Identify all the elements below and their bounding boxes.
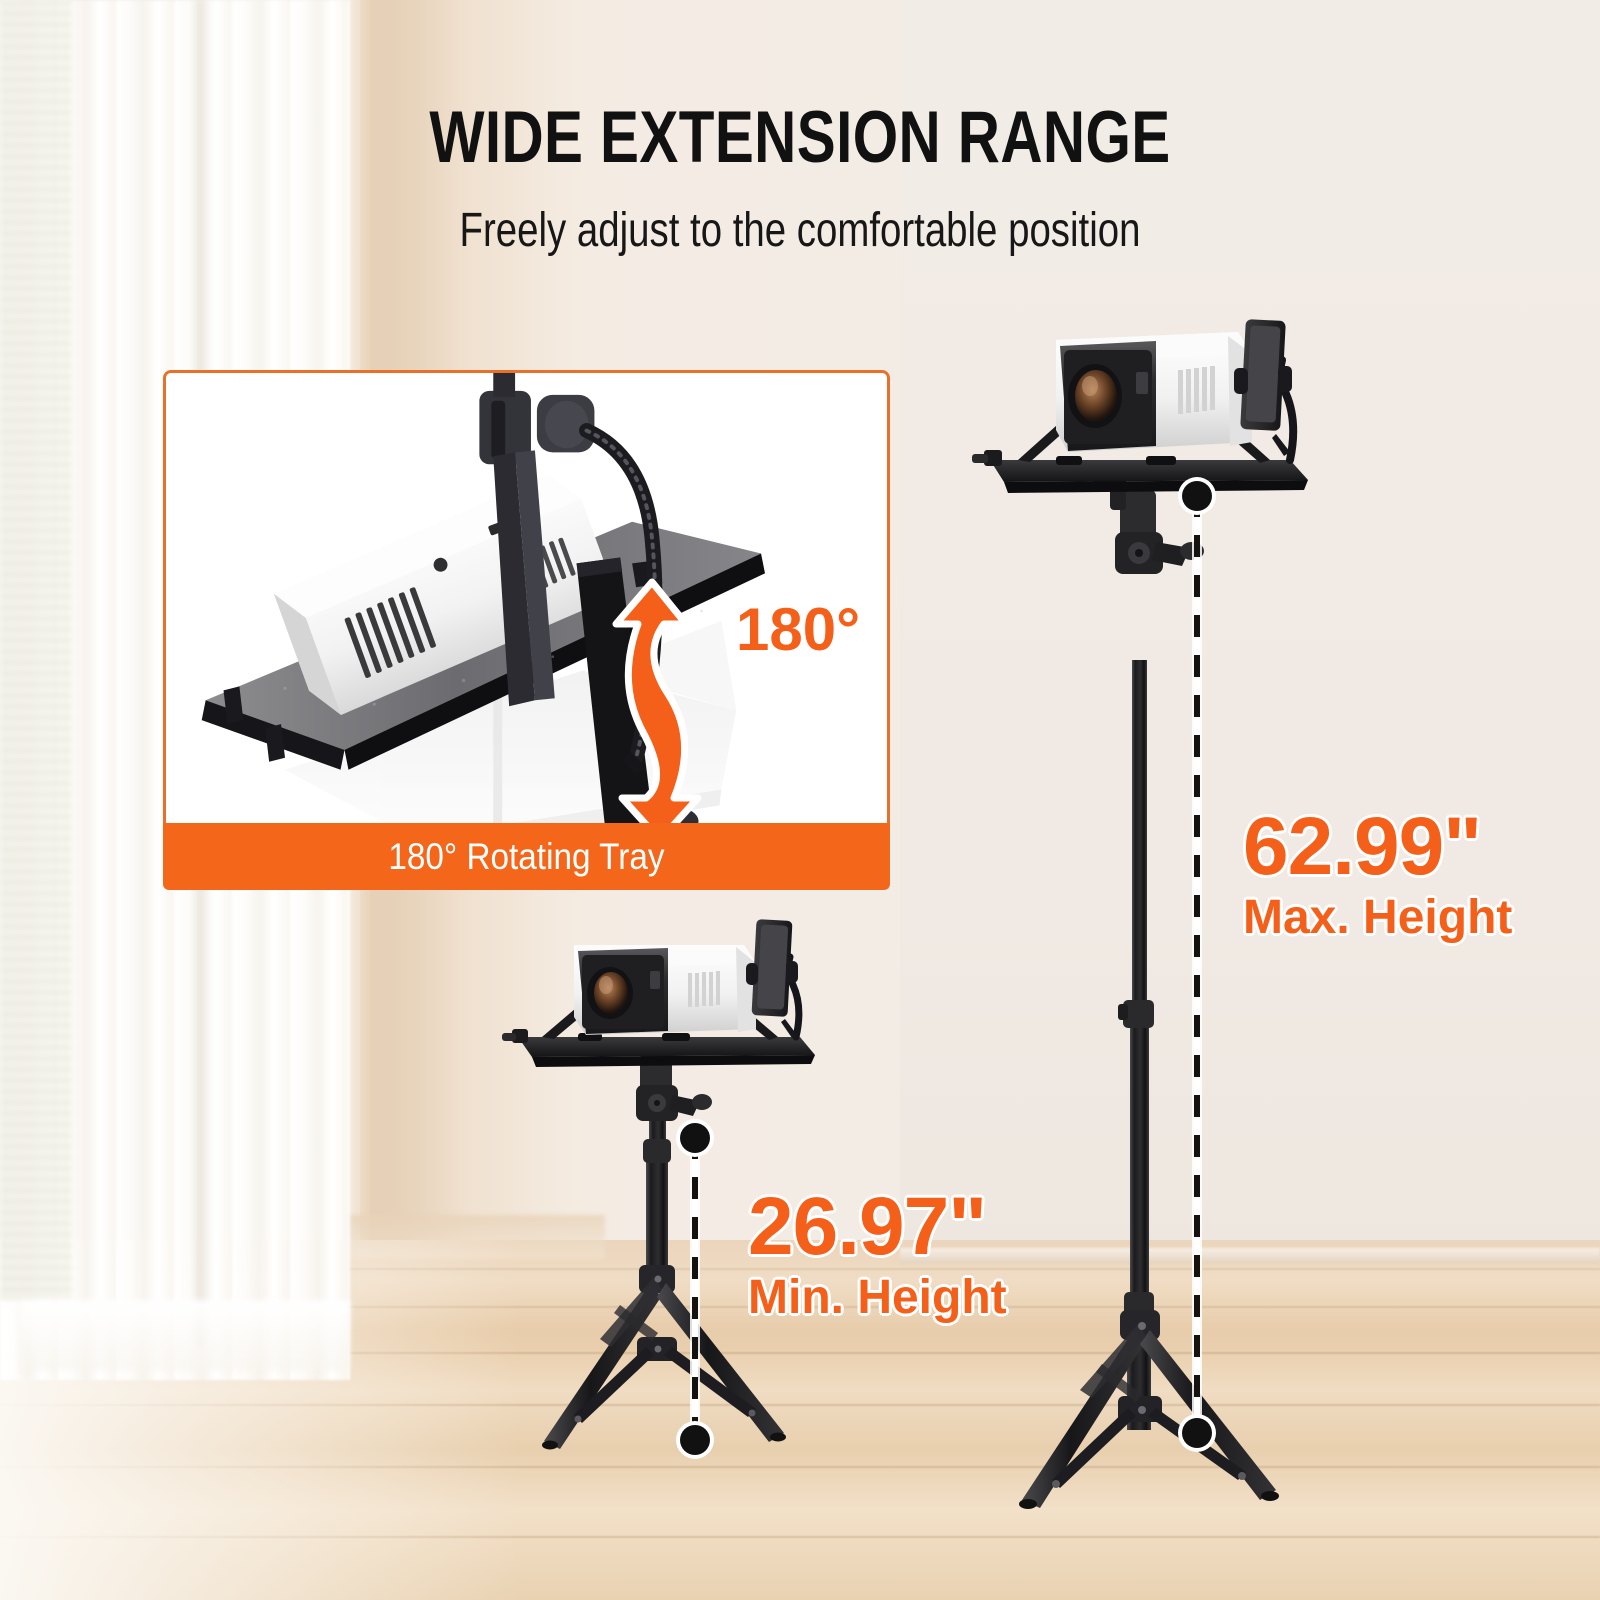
inset-caption-text: 180° Rotating Tray <box>388 836 664 878</box>
inset-caption-bar: 180° Rotating Tray <box>163 823 890 890</box>
max-height-callout: 62.99" Max. Height <box>1243 800 1512 945</box>
min-height-label: Min. Height <box>748 1270 1007 1325</box>
measure-line-min <box>692 1137 698 1437</box>
curtain-hem <box>20 1300 350 1370</box>
measure-dot-min-bottom <box>680 1425 710 1455</box>
rotation-arrow-180 <box>586 548 776 833</box>
measure-dot-max-top <box>1182 481 1212 511</box>
lace-curtain <box>0 0 72 1300</box>
min-height-callout: 26.97" Min. Height <box>748 1180 1007 1325</box>
page-subtitle: Freely adjust to the comfortable positio… <box>160 203 1440 258</box>
min-height-value: 26.97" <box>748 1180 1007 1274</box>
measure-dot-max-bottom <box>1182 1418 1212 1448</box>
projector-device-short <box>574 945 756 1035</box>
max-height-value: 62.99" <box>1243 800 1512 894</box>
measure-line-max <box>1194 495 1200 1430</box>
rotation-angle-label: 180° <box>736 595 860 664</box>
tripod-legs <box>1019 1310 1279 1509</box>
product-marketing-image: 180° 180° Rotating Tray WIDE EXTENSION R… <box>0 0 1600 1600</box>
measure-dot-min-top <box>680 1123 710 1153</box>
page-title: WIDE EXTENSION RANGE <box>160 96 1440 179</box>
max-height-label: Max. Height <box>1243 890 1512 945</box>
feature-inset-panel: 180° <box>163 370 890 890</box>
projector-device <box>1056 332 1252 452</box>
